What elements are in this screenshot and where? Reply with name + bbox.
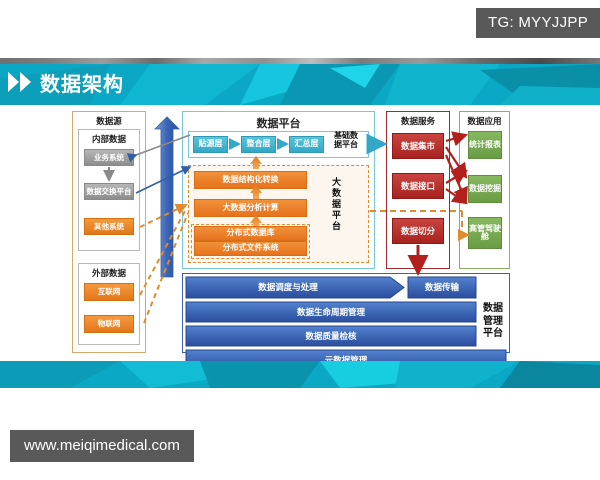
bar-data-lifecycle[interactable]: 数据生命周期管理 bbox=[186, 302, 476, 322]
node-summary-layer[interactable]: 汇总层 bbox=[289, 136, 324, 153]
node-executive-dashboard[interactable]: 高管驾驶舱 bbox=[468, 217, 502, 249]
big-data-platform-label: 大数据平台 bbox=[330, 177, 343, 257]
slide-footer-band bbox=[0, 361, 600, 388]
internal-data-title: 内部数据 bbox=[78, 133, 140, 145]
node-other-system[interactable]: 其他系统 bbox=[84, 218, 134, 235]
node-data-exchange-platform[interactable]: 数据交换平台 bbox=[84, 183, 134, 200]
header-top-strip bbox=[0, 58, 600, 64]
node-integration-layer[interactable]: 整合层 bbox=[241, 136, 276, 153]
data-source-title: 数据源 bbox=[72, 115, 146, 127]
page-title: 数据架构 bbox=[40, 68, 124, 97]
slide-header-band: 数据架构 bbox=[0, 58, 600, 105]
footer-facet-graphic bbox=[0, 361, 600, 388]
node-data-structuring[interactable]: 数据结构化转换 bbox=[194, 171, 307, 189]
basic-platform-label: 基础数据平台 bbox=[331, 132, 361, 150]
bar-data-quality[interactable]: 数据质量检核 bbox=[186, 326, 476, 346]
node-business-system[interactable]: 业务系统 bbox=[84, 149, 134, 166]
site-url-watermark: www.meiqimedical.com bbox=[10, 430, 194, 462]
play-triangle-icon bbox=[8, 70, 34, 94]
slide-canvas: 数据架构 数据源 内部数据 业务系统 数据交换平台 其他系统 外部数据 互联网 … bbox=[0, 58, 600, 388]
node-statistical-report[interactable]: 统计报表 bbox=[468, 131, 502, 159]
node-data-mart[interactable]: 数据集市 bbox=[392, 133, 444, 159]
node-distributed-database[interactable]: 分布式数据库 bbox=[194, 226, 307, 241]
bar-data-scheduling[interactable]: 数据调度与处理 bbox=[186, 277, 390, 298]
data-application-title: 数据应用 bbox=[459, 115, 510, 127]
node-distributed-filesystem[interactable]: 分布式文件系统 bbox=[194, 241, 307, 256]
data-platform-title: 数据平台 bbox=[182, 115, 375, 131]
node-iot[interactable]: 物联网 bbox=[84, 315, 134, 333]
data-management-platform-label: 数据管理平台 bbox=[479, 303, 507, 341]
node-bigdata-analytics[interactable]: 大数据分析计算 bbox=[194, 199, 307, 217]
external-data-title: 外部数据 bbox=[78, 267, 140, 279]
node-internet[interactable]: 互联网 bbox=[84, 283, 134, 301]
architecture-diagram: 数据源 内部数据 业务系统 数据交换平台 其他系统 外部数据 互联网 物联网 数… bbox=[0, 105, 600, 361]
node-data-interface[interactable]: 数据接口 bbox=[392, 173, 444, 199]
bar-data-transmission[interactable]: 数据传输 bbox=[408, 277, 476, 298]
node-data-mining[interactable]: 数据挖掘 bbox=[468, 175, 502, 203]
tg-watermark: TG: MYYJJPP bbox=[476, 8, 600, 38]
node-source-layer[interactable]: 贴源层 bbox=[193, 136, 228, 153]
node-data-partition[interactable]: 数据切分 bbox=[392, 218, 444, 244]
data-service-title: 数据服务 bbox=[386, 115, 450, 127]
